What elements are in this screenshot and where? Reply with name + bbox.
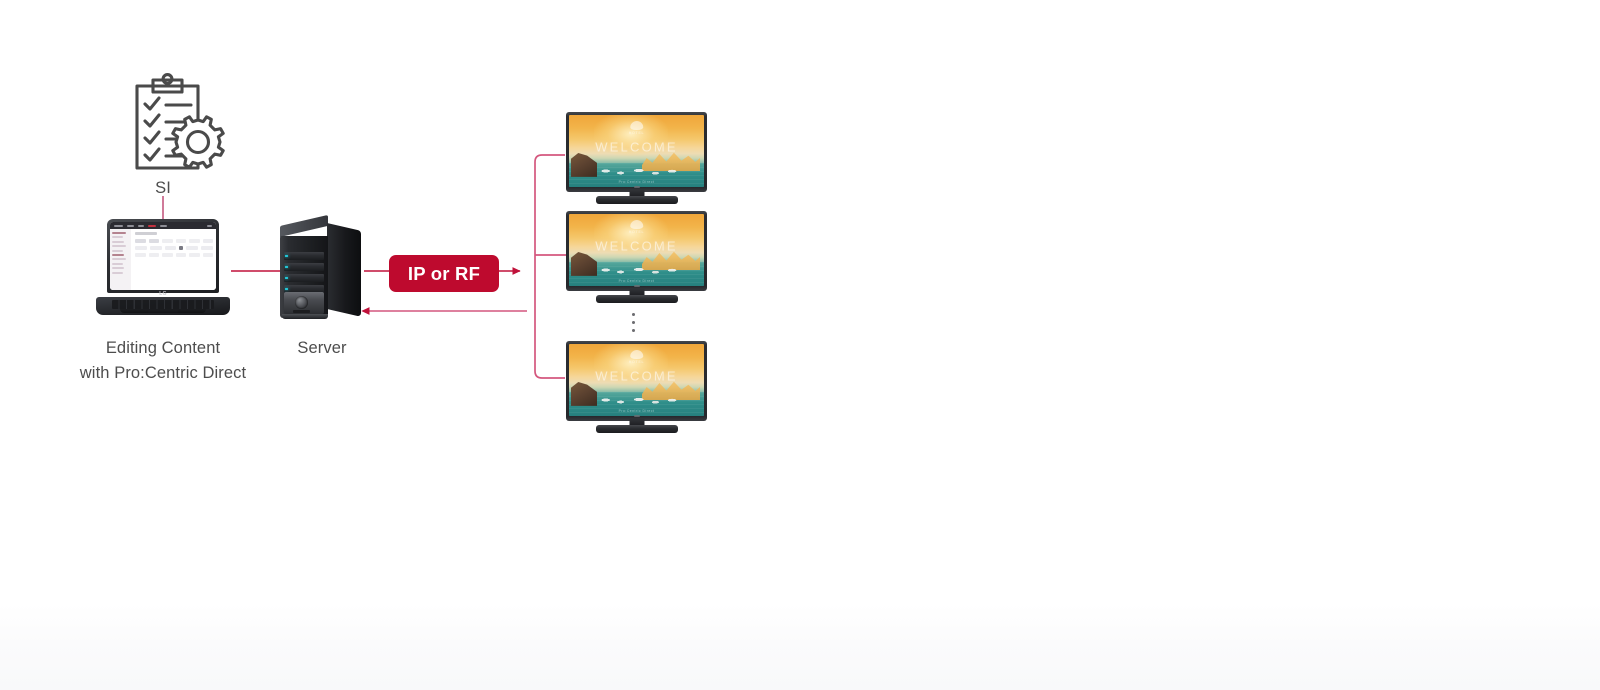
welcome-text: WELCOME bbox=[595, 139, 678, 154]
boats bbox=[599, 264, 683, 274]
wire-tv-bus bbox=[535, 155, 565, 378]
cliff bbox=[571, 250, 597, 276]
tv-footnote: Pro:Centric Direct bbox=[619, 279, 655, 283]
tv-bezel: HOTEL WELCOME Pro:Centric Direct bbox=[566, 112, 707, 192]
laptop-base bbox=[96, 297, 230, 315]
tv-footnote: Pro:Centric Direct bbox=[619, 180, 655, 184]
crest-icon bbox=[630, 220, 643, 229]
app-content bbox=[131, 229, 216, 290]
drive-bay bbox=[284, 274, 324, 282]
tv-chin-logo bbox=[634, 415, 640, 417]
boats bbox=[599, 394, 683, 404]
laptop-brand-mark: LG bbox=[159, 291, 167, 297]
welcome-text: WELCOME bbox=[595, 238, 678, 253]
drive-bay bbox=[284, 252, 324, 260]
laptop-lid bbox=[107, 219, 219, 293]
hotel-name: HOTEL bbox=[629, 230, 644, 235]
server-drive-bays bbox=[284, 252, 324, 296]
more-tvs-indicator bbox=[632, 313, 635, 332]
welcome-text: WELCOME bbox=[595, 368, 678, 383]
app-topbar bbox=[110, 222, 216, 229]
tv-node-3[interactable]: HOTEL WELCOME Pro:Centric Direct bbox=[566, 341, 707, 433]
server-control-panel bbox=[284, 292, 324, 314]
laptop-keyboard bbox=[112, 300, 214, 309]
hotel-logo: HOTEL bbox=[629, 220, 644, 235]
diagram-canvas: SI bbox=[0, 0, 1600, 690]
si-node[interactable] bbox=[120, 72, 230, 177]
tv-screen: HOTEL WELCOME Pro:Centric Direct bbox=[569, 115, 704, 187]
crest-icon bbox=[630, 121, 643, 130]
bottom-band bbox=[0, 604, 1600, 690]
drive-bay bbox=[284, 263, 324, 271]
clipboard-gear-icon bbox=[120, 72, 230, 177]
laptop-screen bbox=[110, 222, 216, 290]
ellipsis-dot bbox=[632, 321, 635, 324]
server-foot bbox=[282, 314, 328, 319]
server-slot bbox=[293, 310, 310, 313]
tv-screen: HOTEL WELCOME Pro:Centric Direct bbox=[569, 214, 704, 286]
app-sidebar bbox=[110, 229, 131, 290]
server-node[interactable] bbox=[280, 226, 364, 318]
tv-footnote: Pro:Centric Direct bbox=[619, 409, 655, 413]
power-button-icon[interactable] bbox=[295, 296, 308, 309]
tv-stand bbox=[596, 196, 678, 204]
server-top bbox=[280, 215, 328, 237]
tv-stand bbox=[596, 295, 678, 303]
tv-screen: HOTEL WELCOME Pro:Centric Direct bbox=[569, 344, 704, 416]
tv-node-1[interactable]: HOTEL WELCOME Pro:Centric Direct bbox=[566, 112, 707, 204]
ellipsis-dot bbox=[632, 329, 635, 332]
tv-chin-logo bbox=[634, 186, 640, 188]
hotel-logo: HOTEL bbox=[629, 350, 644, 365]
hotel-logo: HOTEL bbox=[629, 121, 644, 136]
server-side-panel bbox=[327, 223, 361, 317]
tv-bezel: HOTEL WELCOME Pro:Centric Direct bbox=[566, 211, 707, 291]
server-label: Server bbox=[252, 336, 392, 361]
tv-bezel: HOTEL WELCOME Pro:Centric Direct bbox=[566, 341, 707, 421]
ellipsis-dot bbox=[632, 313, 635, 316]
crest-icon bbox=[630, 350, 643, 359]
hotel-name: HOTEL bbox=[629, 131, 644, 136]
tv-node-2[interactable]: HOTEL WELCOME Pro:Centric Direct bbox=[566, 211, 707, 303]
tv-stand bbox=[596, 425, 678, 433]
cliff bbox=[571, 380, 597, 406]
boats bbox=[599, 165, 683, 175]
laptop-node[interactable]: LG bbox=[96, 219, 230, 321]
hotel-name: HOTEL bbox=[629, 360, 644, 365]
laptop-label-line2: with Pro:Centric Direct bbox=[13, 361, 313, 386]
tv-chin-logo bbox=[634, 285, 640, 287]
si-label: SI bbox=[113, 176, 213, 201]
server-front bbox=[280, 236, 328, 318]
laptop-foot bbox=[120, 309, 206, 313]
cliff bbox=[571, 151, 597, 177]
transport-badge[interactable]: IP or RF bbox=[389, 255, 499, 292]
